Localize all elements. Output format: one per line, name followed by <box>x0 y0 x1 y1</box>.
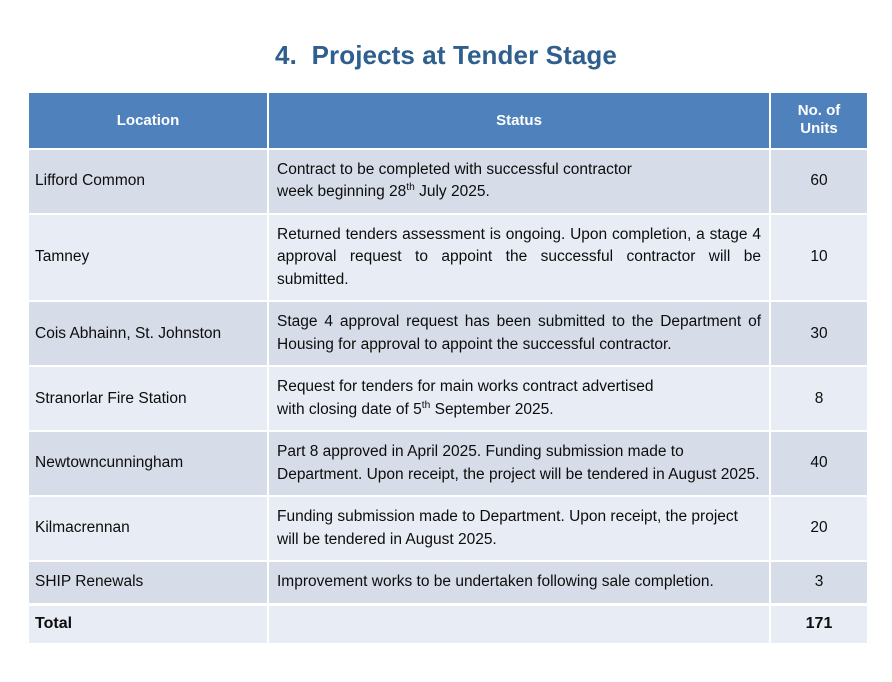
column-header-status: Status <box>268 93 770 149</box>
cell-units: 20 <box>770 496 867 561</box>
cell-location: Kilmacrennan <box>29 496 268 561</box>
table-row: SHIP Renewals Improvement works to be un… <box>29 561 867 604</box>
table-row: Lifford Common Contract to be completed … <box>29 149 867 214</box>
table-row: Cois Abhainn, St. Johnston Stage 4 appro… <box>29 301 867 366</box>
table-total-row: Total 171 <box>29 604 867 643</box>
cell-status: Returned tenders assessment is ongoing. … <box>268 214 770 301</box>
status-line-1: Contract to be completed with successful… <box>277 159 761 181</box>
ordinal-suffix: th <box>406 182 415 193</box>
column-header-units-line1: No. of <box>777 102 861 120</box>
table-header: Location Status No. of Units <box>29 93 867 149</box>
total-label: Total <box>29 604 268 643</box>
cell-status: Request for tenders for main works contr… <box>268 366 770 431</box>
page-title-container: 4. Projects at Tender Stage <box>0 40 892 71</box>
column-header-units-line2: Units <box>777 120 861 138</box>
table-body: Lifford Common Contract to be completed … <box>29 149 867 643</box>
cell-units: 30 <box>770 301 867 366</box>
table-row: Newtowncunningham Part 8 approved in Apr… <box>29 431 867 496</box>
table-header-row: Location Status No. of Units <box>29 93 867 149</box>
column-header-location: Location <box>29 93 268 149</box>
status-line-2-post: July 2025. <box>415 183 490 200</box>
cell-status: Contract to be completed with successful… <box>268 149 770 214</box>
cell-location: Cois Abhainn, St. Johnston <box>29 301 268 366</box>
table-row: Stranorlar Fire Station Request for tend… <box>29 366 867 431</box>
table-row: Tamney Returned tenders assessment is on… <box>29 214 867 301</box>
status-line-1: Request for tenders for main works contr… <box>277 376 761 398</box>
projects-at-tender-stage-table: Location Status No. of Units Lifford Com… <box>29 93 867 643</box>
cell-units: 10 <box>770 214 867 301</box>
total-status-empty <box>268 604 770 643</box>
table-row: Kilmacrennan Funding submission made to … <box>29 496 867 561</box>
cell-location: Newtowncunningham <box>29 431 268 496</box>
total-units: 171 <box>770 604 867 643</box>
cell-location: Stranorlar Fire Station <box>29 366 268 431</box>
cell-location: SHIP Renewals <box>29 561 268 604</box>
cell-status: Funding submission made to Department. U… <box>268 496 770 561</box>
page-title: 4. Projects at Tender Stage <box>275 40 617 71</box>
status-line-2-pre: with closing date of 5 <box>277 401 422 418</box>
column-header-units: No. of Units <box>770 93 867 149</box>
document-page: 4. Projects at Tender Stage Location Sta… <box>0 0 892 682</box>
projects-table-container: Location Status No. of Units Lifford Com… <box>29 93 867 643</box>
cell-units: 8 <box>770 366 867 431</box>
status-line-2-post: September 2025. <box>430 401 553 418</box>
cell-units: 40 <box>770 431 867 496</box>
cell-location: Tamney <box>29 214 268 301</box>
cell-status: Stage 4 approval request has been submit… <box>268 301 770 366</box>
cell-units: 3 <box>770 561 867 604</box>
cell-status: Part 8 approved in April 2025. Funding s… <box>268 431 770 496</box>
status-line-2-pre: week beginning 28 <box>277 183 406 200</box>
cell-status: Improvement works to be undertaken follo… <box>268 561 770 604</box>
cell-units: 60 <box>770 149 867 214</box>
cell-location: Lifford Common <box>29 149 268 214</box>
